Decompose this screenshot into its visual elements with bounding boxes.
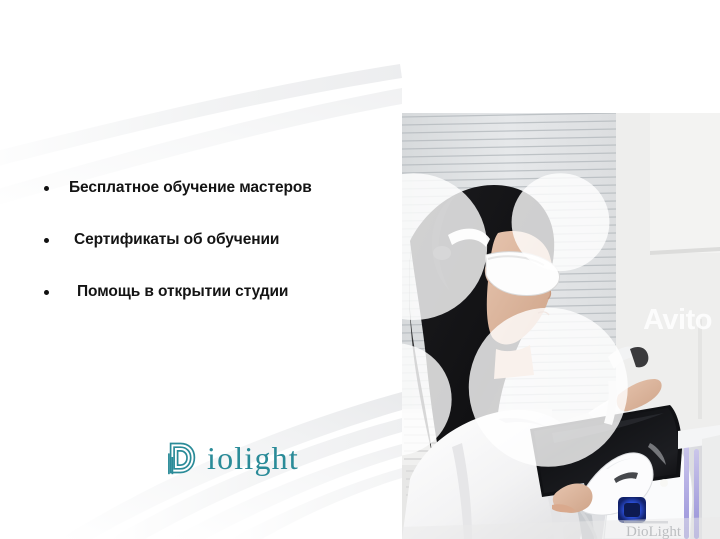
left-content-column: Бесплатное обучение мастеров Сертификаты…: [0, 0, 402, 539]
bullet-dot-icon: [44, 238, 49, 243]
feature-bullet-list: Бесплатное обучение мастеров Сертификаты…: [44, 178, 404, 334]
bullet-label-2: Сертификаты об обучении: [74, 230, 279, 250]
bullet-dot-icon: [44, 290, 49, 295]
list-item: Помощь в открытии студии: [44, 282, 404, 334]
bullet-label-1: Бесплатное обучение мастеров: [69, 178, 312, 198]
logo-wordmark: iolight: [207, 442, 299, 474]
logo-d-mark-icon: [168, 441, 198, 475]
promo-slide: Бесплатное обучение мастеров Сертификаты…: [0, 0, 720, 539]
clinic-photo: DioLight Avito: [402, 113, 720, 539]
bullet-dot-icon: [44, 186, 49, 191]
diolight-logo: iolight: [168, 441, 299, 475]
list-item: Сертификаты об обучении: [44, 230, 404, 282]
list-item: Бесплатное обучение мастеров: [44, 178, 404, 230]
bullet-label-3: Помощь в открытии студии: [77, 282, 288, 302]
